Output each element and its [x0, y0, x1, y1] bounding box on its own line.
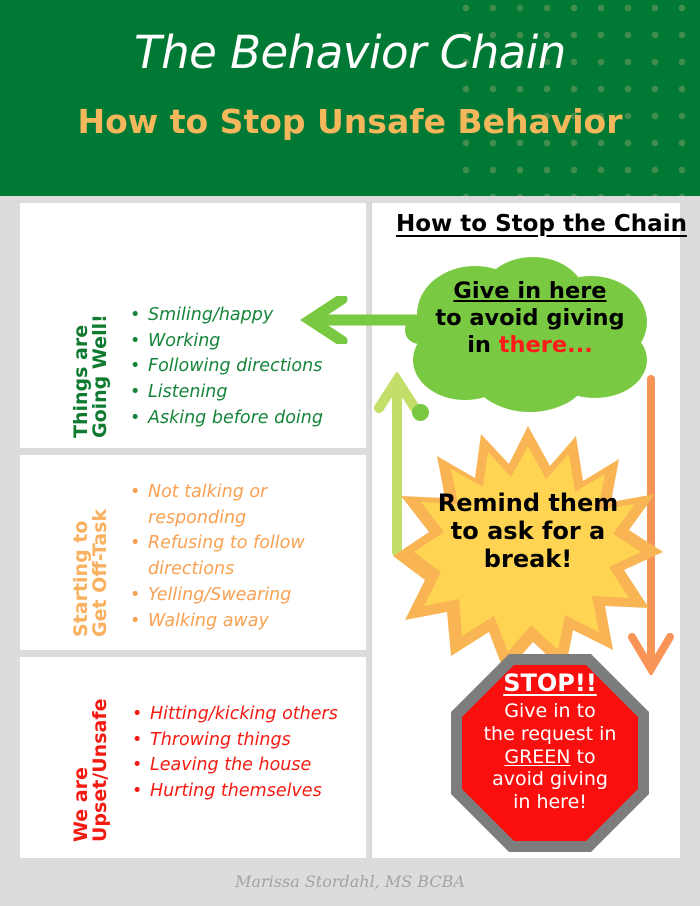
list-item: Throwing things	[132, 728, 338, 754]
infographic-poster: The Behavior Chain How to Stop Unsafe Be…	[0, 0, 700, 906]
cloud-line-3-highlight: there...	[499, 332, 593, 358]
list-item: Leaving the house	[132, 753, 338, 779]
stop-line-1: Give in to	[504, 700, 595, 722]
list-item: Asking before doing	[130, 406, 323, 432]
list-item: Hurting themselves	[132, 779, 338, 805]
list-item: Not talking or responding	[130, 480, 310, 531]
list-item: Working	[130, 329, 323, 355]
page-title: The Behavior Chain	[0, 30, 700, 75]
burst-line-2: to ask for a	[451, 517, 605, 545]
list-item: Yelling/Swearing	[130, 583, 310, 609]
burst-line-1: Remind them	[438, 489, 618, 517]
stop-line-5: in here!	[513, 791, 587, 813]
list-item: Listening	[130, 380, 323, 406]
stop-line-3-suffix: to	[571, 746, 596, 768]
cloud-line-1: Give in here	[453, 278, 606, 304]
stop-sign-message: Give in to the request in GREEN to avoid…	[452, 700, 648, 814]
cloud-line-2: to avoid giving	[435, 305, 624, 331]
list-item: Hitting/kicking others	[132, 702, 338, 728]
author-credit: Marissa Stordahl, MS BCBA	[0, 872, 700, 891]
section-panel-unsafe: We are Upset/Unsafe Hitting/kicking othe…	[20, 657, 366, 858]
section-label-line2: Going Well!	[91, 314, 110, 438]
stop-line-4: avoid giving	[492, 768, 608, 790]
list-item: Refusing to follow directions	[130, 531, 310, 582]
burst-message: Remind them to ask for a break!	[403, 490, 653, 573]
list-item: Smiling/happy	[130, 303, 323, 329]
cloud-message: Give in here to avoid giving in there...	[405, 278, 655, 358]
section-panel-off-task: Starting to Get Off-Task Not talking or …	[20, 455, 366, 650]
behavior-list-unsafe: Hitting/kicking others Throwing things L…	[132, 702, 338, 805]
behavior-list-going-well: Smiling/happy Working Following directio…	[130, 303, 323, 432]
behavior-list-off-task: Not talking or responding Refusing to fo…	[130, 480, 310, 634]
section-label-line2: Get Off-Task	[91, 509, 110, 637]
list-item: Walking away	[130, 609, 310, 635]
list-item: Following directions	[130, 354, 323, 380]
section-label-line2: Upset/Unsafe	[91, 699, 110, 842]
stop-line-2: the request in	[484, 723, 617, 745]
page-subtitle: How to Stop Unsafe Behavior	[0, 105, 700, 138]
right-column-heading: How to Stop the Chain	[396, 211, 687, 237]
section-label-off-task: Starting to Get Off-Task	[72, 509, 110, 637]
burst-line-3: break!	[484, 545, 572, 573]
cloud-line-3-prefix: in	[467, 332, 499, 358]
stop-line-3-underlined: GREEN	[504, 746, 570, 768]
stop-sign-title: STOP!!	[450, 671, 650, 695]
section-label-going-well: Things are Going Well!	[72, 314, 110, 438]
section-label-unsafe: We are Upset/Unsafe	[72, 699, 110, 842]
